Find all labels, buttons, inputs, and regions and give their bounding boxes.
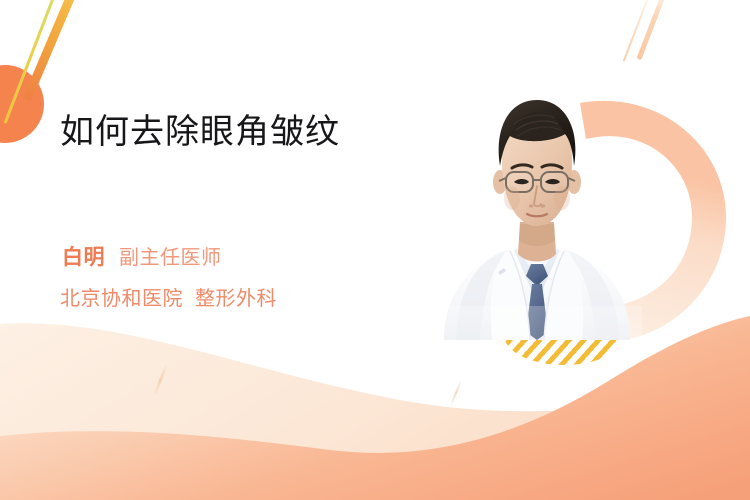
peach-diagonal-stroke-thin (623, 0, 654, 62)
hospital-name: 北京协和医院 (60, 286, 183, 310)
yellow-diagonal-stroke (4, 0, 57, 124)
doctor-credentials-line: 白明副主任医师 (62, 247, 222, 268)
department-name: 整形外科 (195, 286, 277, 310)
doctor-portrait (432, 74, 642, 340)
wave-salmon (0, 316, 750, 500)
medical-video-cover-poster: 如何去除眼角皱纹 白明副主任医师 北京协和医院整形外科 (0, 0, 750, 500)
faint-diagonal-stroke-left (152, 363, 168, 398)
wave-hump (560, 410, 750, 500)
page-title: 如何去除眼角皱纹 (60, 112, 430, 153)
poster-text-block: 如何去除眼角皱纹 (60, 112, 430, 153)
orange-diagonal-stroke (23, 0, 78, 101)
peach-diagonal-stroke-thick (636, 0, 670, 60)
doctor-name: 白明 (62, 245, 105, 269)
wave-pale (0, 323, 750, 500)
faint-diagonal-stroke-mid (449, 379, 462, 408)
doctor-affiliation-line: 北京协和医院整形外科 (60, 288, 277, 308)
orange-circle-decoration (0, 65, 44, 143)
doctor-title: 副主任医师 (119, 245, 222, 269)
